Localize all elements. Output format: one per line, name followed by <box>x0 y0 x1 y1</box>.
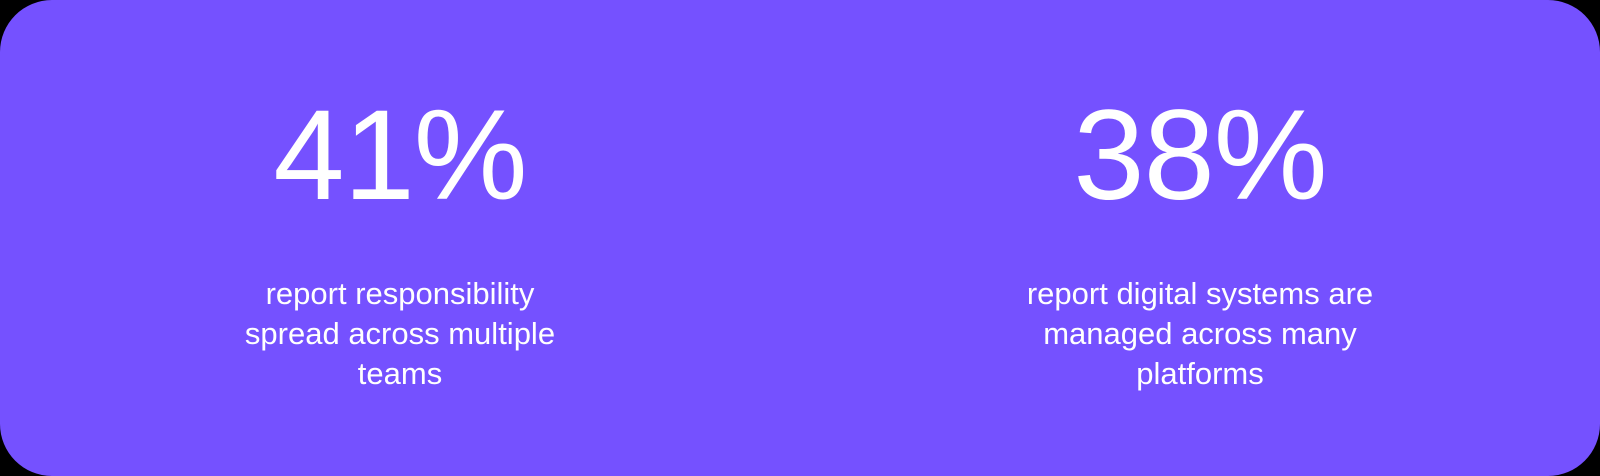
stat-value-2: 38% <box>1073 92 1326 220</box>
stat-block-1: 41% report responsibility spread across … <box>0 0 800 476</box>
stat-caption-2: report digital systems are managed acros… <box>1000 274 1400 394</box>
statistics-card: 41% report responsibility spread across … <box>0 0 1600 476</box>
stat-value-1: 41% <box>273 92 526 220</box>
stat-block-2: 38% report digital systems are managed a… <box>800 0 1600 476</box>
stat-caption-1: report responsibility spread across mult… <box>225 274 575 394</box>
